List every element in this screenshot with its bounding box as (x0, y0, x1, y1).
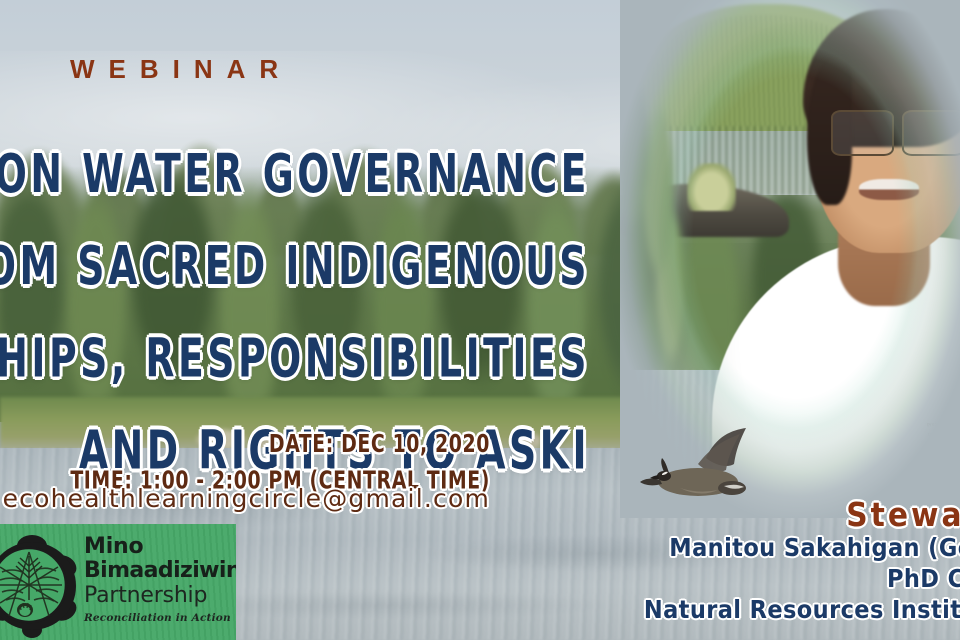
logo-line-3: Partnership (84, 583, 234, 608)
speaker-smile (859, 179, 919, 200)
speaker-name: Stewart Hill (420, 498, 960, 532)
webinar-poster: Preserving and Recycling the gifts of th… (0, 0, 960, 640)
eyeglasses-icon (831, 110, 960, 152)
partnership-logo: Mino Bimaadiziwin Partnership Reconcilia… (0, 524, 236, 640)
speaker-institute: Natural Resources Institute, Univ (420, 594, 960, 625)
title-line-2: FROM SACRED INDIGENOUS (0, 220, 590, 312)
logo-tagline: Reconciliation in Action (84, 612, 234, 624)
speaker-role: PhD Candidate (420, 563, 960, 594)
kicker-label: WEBINAR (70, 54, 292, 85)
title-line-3: RELATIONSHIPS, RESPONSIBILITIES (0, 312, 590, 404)
event-date: DATE: DEC 10, 2020 (0, 426, 490, 463)
tshirt-logo: Preserving and Recycling the gifts of th… (923, 391, 960, 508)
svg-text:Preserving and Recycling: Preserving and Recycling (923, 408, 960, 429)
speaker-credit: Stewart Hill Manitou Sakahigan (God's La… (420, 498, 960, 625)
title-line-1: NATION WATER GOVERNANCE (0, 128, 590, 220)
photo-left-trees (620, 83, 712, 380)
turtle-medicine-wheel-icon (0, 526, 88, 638)
logo-wordmark: Mino Bimaadiziwin Partnership Reconcilia… (84, 535, 234, 624)
logo-line-1: Mino (84, 535, 234, 559)
contact-email[interactable]: ecohealthlearningcircle@gmail.com (0, 484, 490, 513)
svg-text:ISLAND LAKE REGIONAL SCIENCE: ISLAND LAKE REGIONAL SCIENCE (923, 408, 960, 474)
speaker-affiliation: Manitou Sakahigan (God's Lake (420, 532, 960, 563)
logo-line-2: Bimaadiziwin (84, 559, 234, 583)
